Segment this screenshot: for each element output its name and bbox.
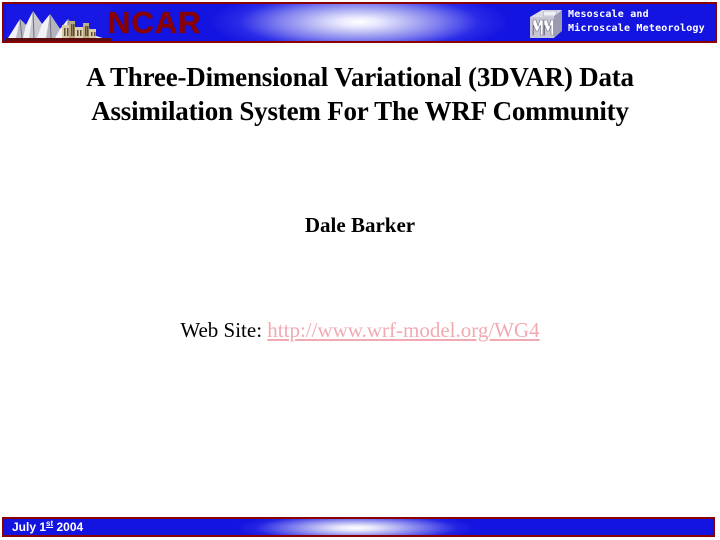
header-banner: NCAR Mesoscale xyxy=(2,2,717,43)
slide-title-line2: Assimilation System For The WRF Communit… xyxy=(35,94,685,128)
ncar-wordmark: NCAR xyxy=(108,6,202,40)
mmm-division-line1: Mesoscale and xyxy=(568,8,705,22)
website-link[interactable]: http://www.wrf-model.org/WG4 xyxy=(267,318,539,342)
slide-title-line1: A Three-Dimensional Variational (3DVAR) … xyxy=(35,60,685,94)
slide-canvas: NCAR Mesoscale xyxy=(0,0,720,540)
footer-date-suffix: 2004 xyxy=(53,520,83,534)
author-name: Dale Barker xyxy=(35,212,685,238)
website-label: Web Site: xyxy=(180,318,262,342)
mmm-cube-logo-icon xyxy=(524,7,566,41)
ncar-flatirons-mesa-lab-logo-icon xyxy=(6,5,111,42)
footer-date-prefix: July 1 xyxy=(12,520,46,534)
slide-title: A Three-Dimensional Variational (3DVAR) … xyxy=(35,60,685,128)
website-line: Web Site: http://www.wrf-model.org/WG4 xyxy=(35,317,685,344)
footer-date: July 1st 2004 xyxy=(12,519,83,535)
mmm-division-name: Mesoscale and Microscale Meteorology xyxy=(568,8,705,36)
mmm-division-line2: Microscale Meteorology xyxy=(568,22,705,36)
footer-banner: July 1st 2004 xyxy=(2,517,715,537)
